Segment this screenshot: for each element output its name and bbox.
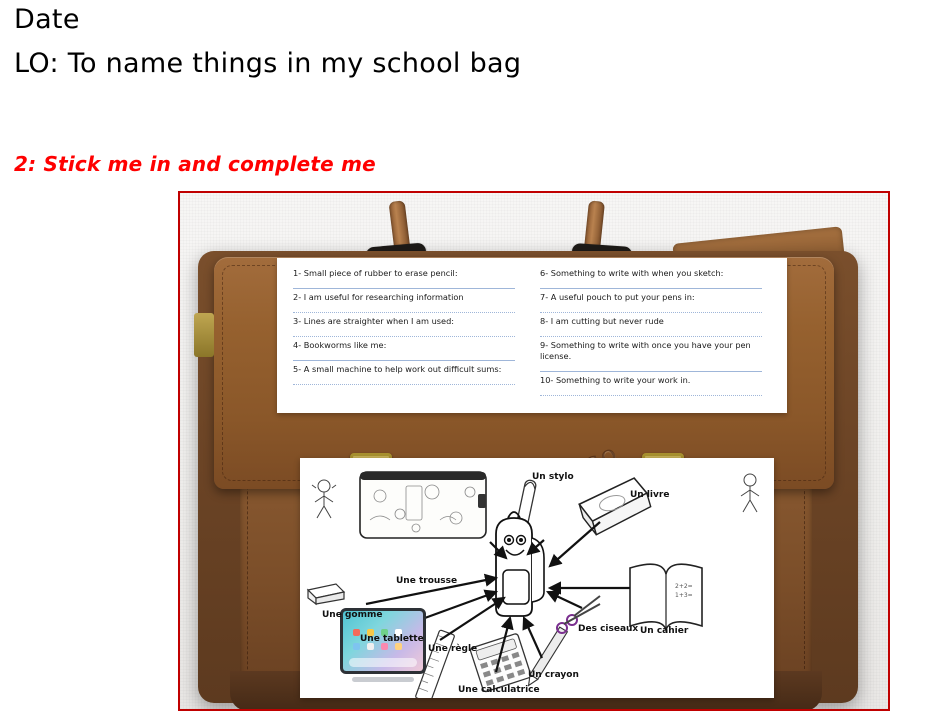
- clue-worksheet[interactable]: 1- Small piece of rubber to erase pencil…: [277, 258, 787, 413]
- clue-item[interactable]: 2- I am useful for researching informati…: [293, 292, 524, 313]
- clue-item[interactable]: 9- Something to write with once you have…: [540, 340, 771, 372]
- backpack-icon: [496, 512, 544, 616]
- notebook-icon: 2+2= 1+3=: [630, 564, 702, 630]
- svg-text:1+3=: 1+3=: [675, 592, 693, 599]
- clue-text: 8- I am cutting but never rude: [540, 316, 664, 326]
- calculator-icon: [470, 633, 532, 692]
- mindmap-label-gomme: Une gomme: [322, 610, 382, 620]
- page-title-lo: LO: To name things in my school bag: [14, 42, 894, 86]
- clue-item[interactable]: 1- Small piece of rubber to erase pencil…: [293, 268, 524, 289]
- clue-text: 9- Something to write with once you have…: [540, 340, 751, 361]
- tablet-dock: [349, 658, 416, 667]
- clue-item[interactable]: 6- Something to write with when you sket…: [540, 268, 771, 289]
- clue-text: 1- Small piece of rubber to erase pencil…: [293, 268, 458, 278]
- eraser-icon: [308, 584, 344, 604]
- answer-line[interactable]: [293, 328, 515, 337]
- clue-text: 6- Something to write with when you sket…: [540, 268, 723, 278]
- page-title-date: Date: [14, 0, 894, 42]
- answer-line[interactable]: [293, 352, 515, 361]
- clue-text: 7- A useful pouch to put your pens in:: [540, 292, 695, 302]
- app-icon: [381, 643, 388, 650]
- clue-text: 3- Lines are straighter when I am used:: [293, 316, 454, 326]
- svg-text:2+2=: 2+2=: [675, 583, 693, 590]
- mindmap-label-livre: Un livre: [630, 490, 669, 500]
- mindmap-label-ciseaux: Des ciseaux: [578, 624, 638, 634]
- clue-item[interactable]: 10- Something to write your work in.: [540, 375, 771, 396]
- answer-line[interactable]: [540, 328, 762, 337]
- answer-line[interactable]: [540, 304, 762, 313]
- clue-text: 5- A small machine to help work out diff…: [293, 364, 501, 374]
- mindmap-label-tablette: Une tablette: [360, 634, 424, 644]
- mindmap-label-stylo: Un stylo: [532, 472, 574, 482]
- mindmap-label-trousse: Une trousse: [396, 576, 457, 586]
- answer-line[interactable]: [540, 387, 762, 396]
- clue-text: 2- I am useful for researching informati…: [293, 292, 464, 302]
- answer-line[interactable]: [540, 280, 762, 289]
- slide-heading-block: Date LO: To name things in my school bag: [14, 0, 894, 86]
- stick-figure-icon-right: [741, 474, 759, 512]
- app-icon: [367, 643, 374, 650]
- stick-figure-icon: [312, 480, 336, 518]
- app-icon: [395, 643, 402, 650]
- mindmap-label-cahier: Un cahier: [640, 626, 688, 636]
- clue-item[interactable]: 8- I am cutting but never rude: [540, 316, 771, 337]
- pencil-case-icon: [360, 472, 486, 538]
- clue-item[interactable]: 4- Bookworms like me:: [293, 340, 524, 361]
- clue-item[interactable]: 3- Lines are straighter when I am used:: [293, 316, 524, 337]
- mindmap-label-regle: Une règle: [428, 644, 477, 654]
- clue-text: 10- Something to write your work in.: [540, 375, 690, 385]
- clue-item[interactable]: 5- A small machine to help work out diff…: [293, 364, 524, 385]
- answer-line[interactable]: [540, 363, 762, 372]
- clue-text: 4- Bookworms like me:: [293, 340, 386, 350]
- clue-column-left: 1- Small piece of rubber to erase pencil…: [285, 268, 532, 405]
- answer-line[interactable]: [293, 304, 515, 313]
- tablet-stand: [352, 677, 414, 682]
- clue-item[interactable]: 7- A useful pouch to put your pens in:: [540, 292, 771, 313]
- side-buckle: [194, 313, 214, 357]
- task-instruction: 2: Stick me in and complete me: [14, 152, 376, 176]
- vocabulary-mindmap[interactable]: 2+2= 1+3=: [300, 458, 774, 698]
- photo-area: asso 1- Small piece of rubber to erase p…: [180, 193, 888, 709]
- worksheet-image-frame[interactable]: asso 1- Small piece of rubber to erase p…: [178, 191, 890, 711]
- book-icon: [576, 476, 653, 537]
- answer-line[interactable]: [293, 280, 515, 289]
- answer-line[interactable]: [293, 376, 515, 385]
- app-icon: [353, 643, 360, 650]
- app-icon: [353, 629, 360, 636]
- clue-column-right: 6- Something to write with when you sket…: [532, 268, 779, 405]
- mindmap-label-crayon: Un crayon: [528, 670, 579, 680]
